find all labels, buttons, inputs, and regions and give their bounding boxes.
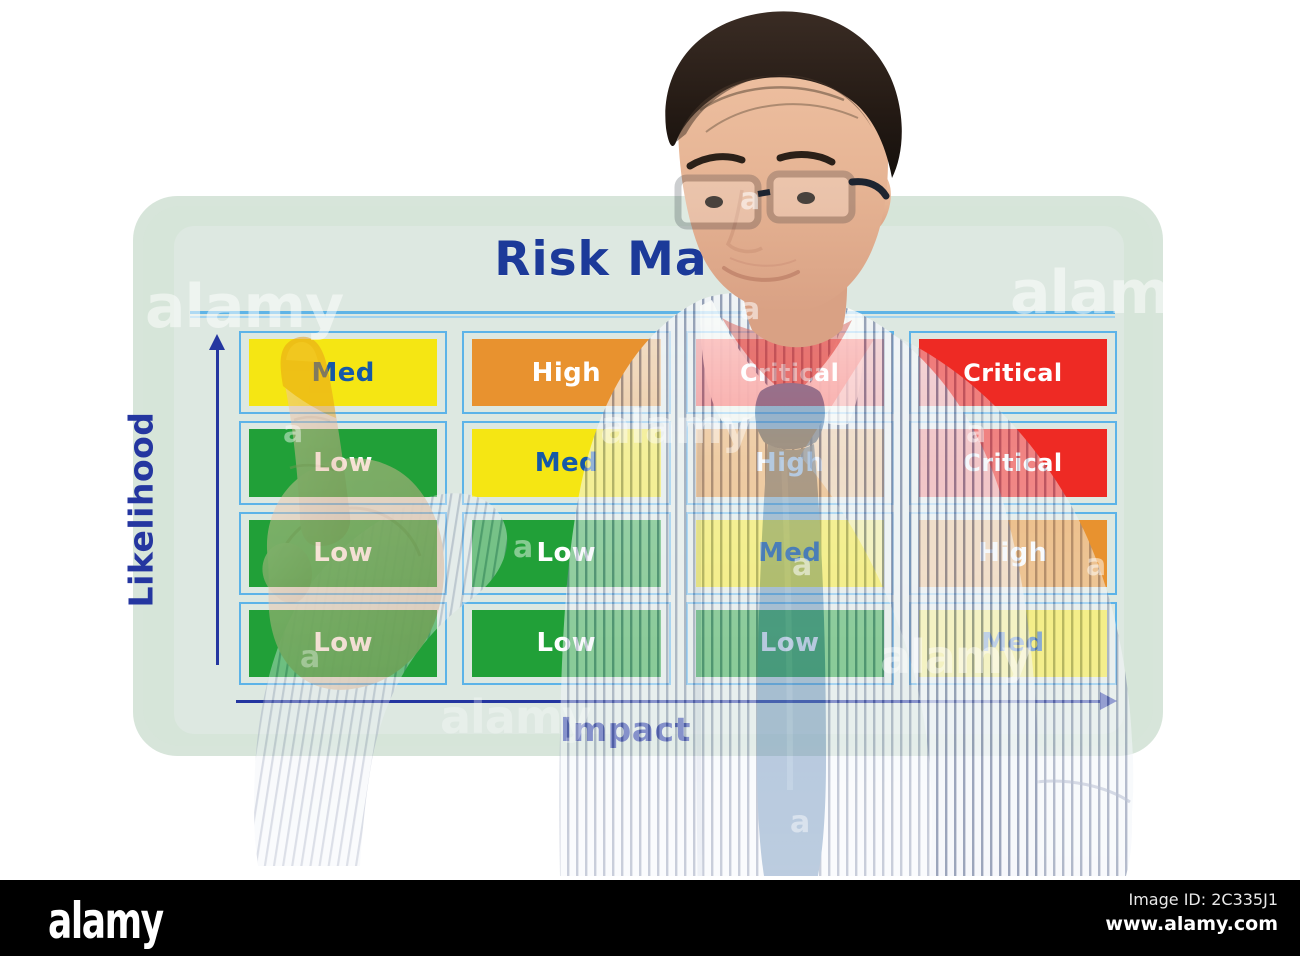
likelihood-axis-line [216, 345, 219, 665]
risk-cell-label: Critical [919, 429, 1107, 496]
risk-cell-label: Low [249, 610, 437, 677]
risk-cell-label: High [472, 339, 660, 406]
risk-cell-label: Low [249, 520, 437, 587]
risk-matrix-grid: MedHighCriticalCriticalLowMedHighCritica… [239, 331, 1117, 685]
alamy-logo: alamy [48, 892, 163, 950]
watermark-letter: a [790, 805, 810, 840]
stock-photo-footer: alamy Image ID: 2C335J1 www.alamy.com [0, 880, 1300, 956]
risk-cell[interactable]: Med [239, 331, 447, 414]
risk-cell-label: Low [249, 429, 437, 496]
risk-cell-label: Low [472, 520, 660, 587]
risk-cell-label: Low [696, 610, 884, 677]
risk-cell[interactable]: Med [686, 512, 894, 595]
likelihood-axis-label: Likelihood [122, 360, 161, 660]
risk-cell-label: Med [249, 339, 437, 406]
risk-cell[interactable]: Critical [909, 331, 1117, 414]
risk-cell[interactable]: Low [239, 602, 447, 685]
risk-cell[interactable]: High [462, 331, 670, 414]
risk-cell-label: Med [472, 429, 660, 496]
risk-cell[interactable]: High [909, 512, 1117, 595]
risk-cell[interactable]: Low [462, 512, 670, 595]
risk-cell-label: High [696, 429, 884, 496]
risk-cell[interactable]: Low [239, 512, 447, 595]
risk-cell[interactable]: Med [462, 421, 670, 504]
risk-cell-label: Critical [696, 339, 884, 406]
risk-cell[interactable]: Critical [909, 421, 1117, 504]
risk-cell[interactable]: Low [239, 421, 447, 504]
risk-cell-label: High [919, 520, 1107, 587]
risk-cell-label: Med [919, 610, 1107, 677]
alamy-url: www.alamy.com [1105, 913, 1278, 935]
title-divider [190, 311, 1115, 314]
risk-cell[interactable]: Low [462, 602, 670, 685]
impact-axis-label: Impact [560, 710, 691, 749]
page-title: Risk Matrix [174, 232, 1124, 287]
risk-cell[interactable]: Low [686, 602, 894, 685]
risk-cell-label: Med [696, 520, 884, 587]
risk-cell-label: Critical [919, 339, 1107, 406]
impact-arrow-icon [1100, 692, 1117, 710]
risk-cell[interactable]: Med [909, 602, 1117, 685]
risk-cell[interactable]: High [686, 421, 894, 504]
title-divider-secondary [190, 316, 1115, 318]
impact-axis-line [236, 700, 1106, 703]
risk-cell-label: Low [472, 610, 660, 677]
likelihood-arrow-icon [209, 334, 225, 350]
image-canvas: Risk Matrix Likelihood Impact MedHighCri… [0, 0, 1300, 880]
risk-cell[interactable]: Critical [686, 331, 894, 414]
image-id-label: Image ID: 2C335J1 [1129, 890, 1279, 909]
